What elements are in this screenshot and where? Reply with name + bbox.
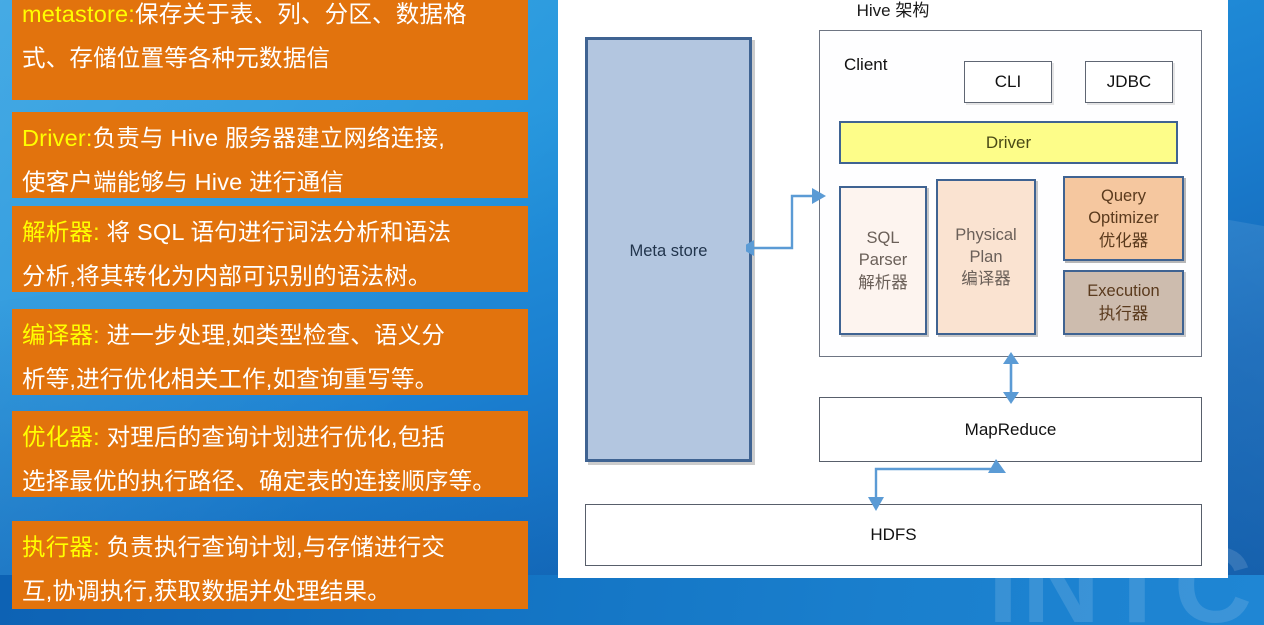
query-optimizer-line: Optimizer [1088,207,1159,229]
physical-plan-line: Plan [969,246,1002,268]
mapreduce-box: MapReduce [819,397,1202,462]
note-keyword: 优化器: [22,424,100,450]
note-line: 式、存储位置等各种元数据信 [22,36,520,80]
note-box-driver: Driver:负责与 Hive 服务器建立网络连接, 使客户端能够与 Hive … [12,112,528,198]
sql-parser-box: SQL Parser 解析器 [839,186,927,335]
driver-label: Driver [986,133,1031,153]
diagram-title: Hive 架构 [558,0,1228,21]
note-box-executor: 执行器: 负责执行查询计划,与存储进行交 互,协调执行,获取数据并处理结果。 [12,521,528,609]
note-line: 使客户端能够与 Hive 进行通信 [22,160,520,204]
note-text: 对理后的查询计划进行优化,包括 [100,424,445,450]
meta-store-label: Meta store [588,242,749,261]
note-keyword: metastore: [22,1,135,27]
left-notes-panel: metastore:保存关于表、列、分区、数据格 式、存储位置等各种元数据信 D… [12,0,528,625]
meta-store-box: Meta store [585,37,752,462]
execution-line: Execution [1087,280,1159,302]
physical-plan-box: Physical Plan 编译器 [936,179,1036,335]
execution-line: 执行器 [1099,303,1149,325]
note-line: 析等,进行优化相关工作,如查询重写等。 [22,357,520,401]
execution-box: Execution 执行器 [1063,270,1184,335]
sql-parser-line: Parser [859,249,908,271]
mapreduce-label: MapReduce [965,420,1057,440]
note-keyword: 执行器: [22,534,100,560]
note-text: 进一步处理,如类型检查、语义分 [100,322,445,348]
note-text: 将 SQL 语句进行词法分析和语法 [100,219,451,245]
note-keyword: Driver: [22,125,93,151]
note-keyword: 编译器: [22,322,100,348]
query-optimizer-box: Query Optimizer 优化器 [1063,176,1184,261]
note-line: Driver:负责与 Hive 服务器建立网络连接, [22,116,520,160]
note-line: 分析,将其转化为内部可识别的语法树。 [22,254,520,298]
note-box-metastore: metastore:保存关于表、列、分区、数据格 式、存储位置等各种元数据信 [12,0,528,100]
physical-plan-line: 编译器 [961,268,1011,290]
physical-plan-labels: Physical Plan 编译器 [938,181,1034,333]
note-box-optimizer: 优化器: 对理后的查询计划进行优化,包括 选择最优的执行路径、确定表的连接顺序等… [12,411,528,497]
execution-labels: Execution 执行器 [1065,272,1182,333]
physical-plan-line: Physical [955,224,1016,246]
sql-parser-line: SQL [866,227,899,249]
jdbc-label: JDBC [1107,72,1151,92]
note-text: 负责与 Hive 服务器建立网络连接, [93,125,445,151]
note-text: 保存关于表、列、分区、数据格 [135,1,467,27]
note-line: 选择最优的执行路径、确定表的连接顺序等。 [22,459,520,503]
query-optimizer-labels: Query Optimizer 优化器 [1065,178,1182,259]
note-box-compiler: 编译器: 进一步处理,如类型检查、语义分 析等,进行优化相关工作,如查询重写等。 [12,309,528,395]
note-line: 优化器: 对理后的查询计划进行优化,包括 [22,415,520,459]
note-line: 解析器: 将 SQL 语句进行词法分析和语法 [22,210,520,254]
query-optimizer-line: 优化器 [1099,230,1149,252]
metastore-client-connector-arrow [746,182,826,260]
cli-box: CLI [964,61,1052,103]
cli-label: CLI [995,72,1021,92]
query-optimizer-line: Query [1101,185,1146,207]
note-line: 互,协调执行,获取数据并处理结果。 [22,569,520,613]
hdfs-label: HDFS [870,525,916,545]
driver-box: Driver [839,121,1178,164]
hdfs-box: HDFS [585,504,1202,566]
note-keyword: 解析器: [22,219,100,245]
hive-architecture-diagram: Hive 架构 Meta store Client CLI JDBC Drive… [558,0,1228,578]
note-text: 负责执行查询计划,与存储进行交 [100,534,445,560]
client-label: Client [844,55,887,75]
note-box-parser: 解析器: 将 SQL 语句进行词法分析和语法 分析,将其转化为内部可识别的语法树… [12,206,528,292]
note-line: metastore:保存关于表、列、分区、数据格 [22,0,520,36]
note-line: 执行器: 负责执行查询计划,与存储进行交 [22,525,520,569]
sql-parser-labels: SQL Parser 解析器 [841,188,925,333]
note-line: 编译器: 进一步处理,如类型检查、语义分 [22,313,520,357]
jdbc-box: JDBC [1085,61,1173,103]
sql-parser-line: 解析器 [858,272,908,294]
